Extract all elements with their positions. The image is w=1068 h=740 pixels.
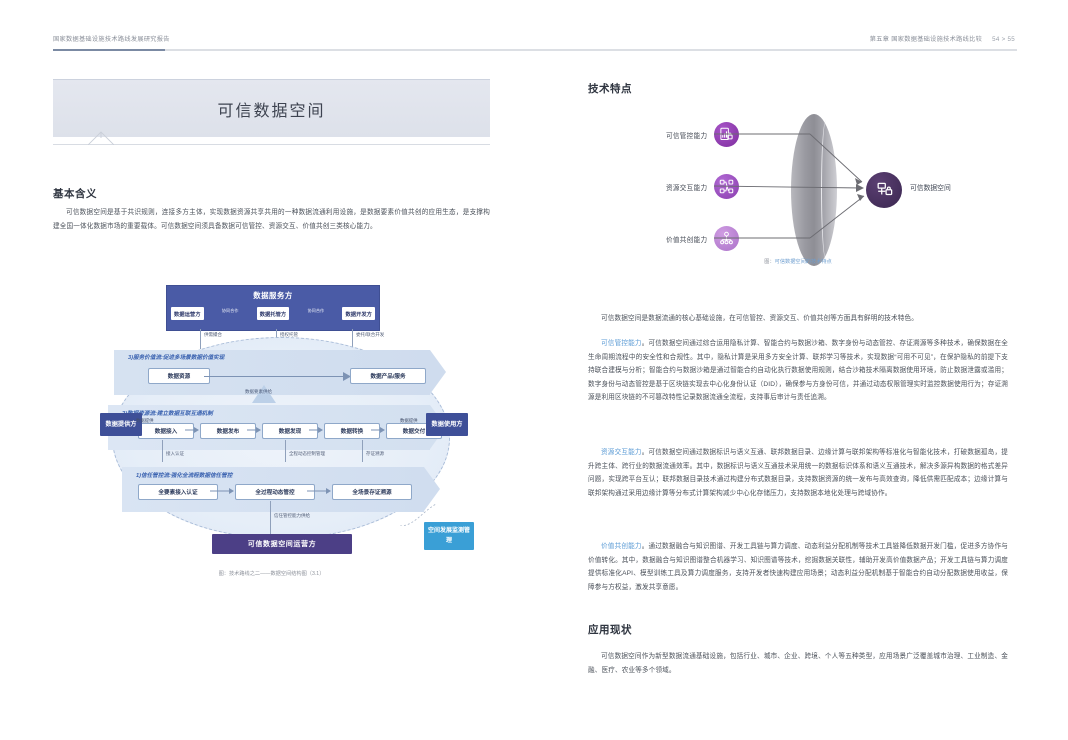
service-provider-title: 数据服务方 bbox=[167, 290, 379, 301]
label-evidence-trace: 存证溯源 bbox=[366, 451, 384, 457]
label-supply-match: 供需撮合 bbox=[204, 332, 222, 338]
paragraph-resource-interaction: 资源交互能力。可信数据空间通过数据标识与语义互通、联邦数据目录、边缘计算与联邦架… bbox=[588, 446, 1008, 500]
arrow-f1-1 bbox=[210, 487, 234, 495]
title-underline bbox=[53, 144, 490, 145]
figure-caption-right: 图：可信数据空间的技术特点 bbox=[588, 258, 1008, 265]
label-element-supply: 数据要素供给 bbox=[245, 389, 272, 395]
node-full-scene-trace: 全场景存证溯源 bbox=[332, 484, 412, 500]
value-flow-arrow-tip bbox=[430, 350, 446, 394]
arrow-f1-2 bbox=[307, 487, 331, 495]
heading-tech-features: 技术特点 bbox=[588, 81, 632, 96]
page-number: 54 > 55 bbox=[992, 36, 1015, 43]
paragraph-value-cocreation: 价值共创能力。通过数据融合与知识图谱、开发工具链与算力调度、动态利益分配机制等技… bbox=[588, 540, 1008, 594]
trust-flow-label: 1)信任管控流:强化全流程数据信任管控 bbox=[136, 471, 232, 479]
text-resource-interaction: 。可信数据空间通过数据标识与语义互通、联邦数据目录、边缘计算与联邦架构等标准化与… bbox=[588, 449, 1008, 497]
arrow-f2-1 bbox=[185, 426, 199, 434]
connector-value-flow bbox=[204, 376, 346, 377]
trusted-data-space-icon bbox=[866, 172, 902, 208]
value-flow-label: 3)服务价值流:促进多场景数据价值实现 bbox=[128, 353, 224, 361]
chip-data-operator: 数据运营方 bbox=[171, 307, 204, 320]
header-rule-right bbox=[535, 49, 1017, 51]
keyword-value-cocreation: 价值共创能力 bbox=[601, 543, 642, 550]
service-provider-band: 数据服务方 数据运营方 协同合作 数据托管方 协同合作 数据开发方 bbox=[166, 285, 380, 331]
service-provider-chips: 数据运营方 协同合作 数据托管方 协同合作 数据开发方 bbox=[171, 307, 375, 320]
monitor-connector bbox=[400, 500, 440, 526]
operator-box: 可信数据空间运营方 bbox=[212, 534, 352, 554]
text-trusted-control: 。可信数据空间通过综合运用隐私计算、智能合约与数据沙箱、数字身份与动态管控、存证… bbox=[588, 340, 1008, 401]
label-joint-development: 委托/联合开发 bbox=[356, 332, 384, 338]
actor-data-consumer: 数据使用方 bbox=[426, 413, 468, 436]
paragraph-tech-intro: 可信数据空间是数据流通的核心基础设施，在可信管控、资源交互、价值共创等方面具有鲜… bbox=[588, 312, 1008, 326]
paragraph-basic-meaning: 可信数据空间是基于共识规则，连接多方主体，实现数据资源共享共用的一种数据流通利用… bbox=[53, 206, 490, 233]
chip-data-custodian: 数据托管方 bbox=[257, 307, 290, 320]
actor-data-provider-label: 数据提供方 bbox=[106, 421, 137, 428]
header-rule-accent bbox=[53, 49, 165, 51]
node-full-process-control: 全过程动态管控 bbox=[235, 484, 315, 500]
actor-data-consumer-label: 数据使用方 bbox=[432, 421, 463, 428]
coop-label-1: 协同合作 bbox=[222, 308, 239, 314]
figure-caption-left: 图：技术路线之二——数据空间结构图（3.1） bbox=[53, 570, 490, 577]
node-data-product-service: 数据产品/服务 bbox=[350, 368, 426, 384]
chip-data-developer: 数据开发方 bbox=[342, 307, 375, 320]
label-provider-note: 数据提供 bbox=[136, 417, 154, 424]
header-rule-left bbox=[53, 49, 535, 51]
label-trust-capability-supply: 信任管控能力供给 bbox=[274, 513, 310, 519]
tech-feature-figure: 可信管控能力 资源交互能力 bbox=[588, 110, 1008, 270]
node-full-element-auth: 全要素接入认证 bbox=[138, 484, 218, 500]
heading-basic-meaning: 基本含义 bbox=[53, 186, 97, 201]
heading-application-status: 应用现状 bbox=[588, 622, 632, 637]
connector-vertical-1 bbox=[200, 329, 201, 349]
paragraph-application-status: 可信数据空间作为新型数据流通基础设施，包括行业、城市、企业、跨境、个人等五种类型… bbox=[588, 650, 1008, 677]
connector-operator-supply bbox=[270, 501, 271, 534]
label-consumer-note: 数据提供 bbox=[400, 417, 418, 424]
arrow-f2-4 bbox=[371, 426, 385, 434]
page-title: 可信数据空间 bbox=[217, 97, 325, 121]
figure-caption-text: 可信数据空间的技术特点 bbox=[775, 259, 832, 265]
connector-up-3 bbox=[362, 440, 363, 462]
running-head-left: 国家数据基础设施技术路线发展研究报告 bbox=[53, 34, 170, 43]
coop-label-2: 协同合作 bbox=[307, 308, 324, 314]
keyword-resource-interaction: 资源交互能力 bbox=[601, 449, 642, 456]
document-page: 国家数据基础设施技术路线发展研究报告 第五章 国家数据基础设施技术路线比较54 … bbox=[0, 0, 1068, 740]
page-title-box: 可信数据空间 bbox=[53, 79, 490, 137]
text-value-cocreation: 。通过数据融合与知识图谱、开发工具链与算力调度、动态利益分配机制等技术工具链降低… bbox=[588, 543, 1008, 591]
trusted-data-space-label: 可信数据空间 bbox=[910, 182, 951, 192]
monitor-box: 空间发展监测管理 bbox=[424, 522, 474, 550]
title-tick-mark bbox=[88, 131, 114, 145]
arrow-f2-3 bbox=[309, 426, 323, 434]
running-head-chapter: 第五章 国家数据基础设施技术路线比较 bbox=[870, 36, 982, 43]
arrow-f2-2 bbox=[247, 426, 261, 434]
label-access-auth: 接入认证 bbox=[166, 451, 184, 457]
figure-caption-prefix: 图： bbox=[764, 259, 774, 265]
paragraph-trusted-control: 可信管控能力。可信数据空间通过综合运用隐私计算、智能合约与数据沙箱、数字身份与动… bbox=[588, 337, 1008, 405]
connector-up-2 bbox=[285, 440, 286, 462]
node-data-resource: 数据资源 bbox=[148, 368, 210, 384]
keyword-trusted-control: 可信管控能力 bbox=[601, 340, 642, 347]
label-dynamic-control: 全程动态控制管理 bbox=[289, 451, 325, 457]
running-head-right: 第五章 国家数据基础设施技术路线比较54 > 55 bbox=[870, 34, 1015, 43]
connector-up-1 bbox=[162, 440, 163, 462]
